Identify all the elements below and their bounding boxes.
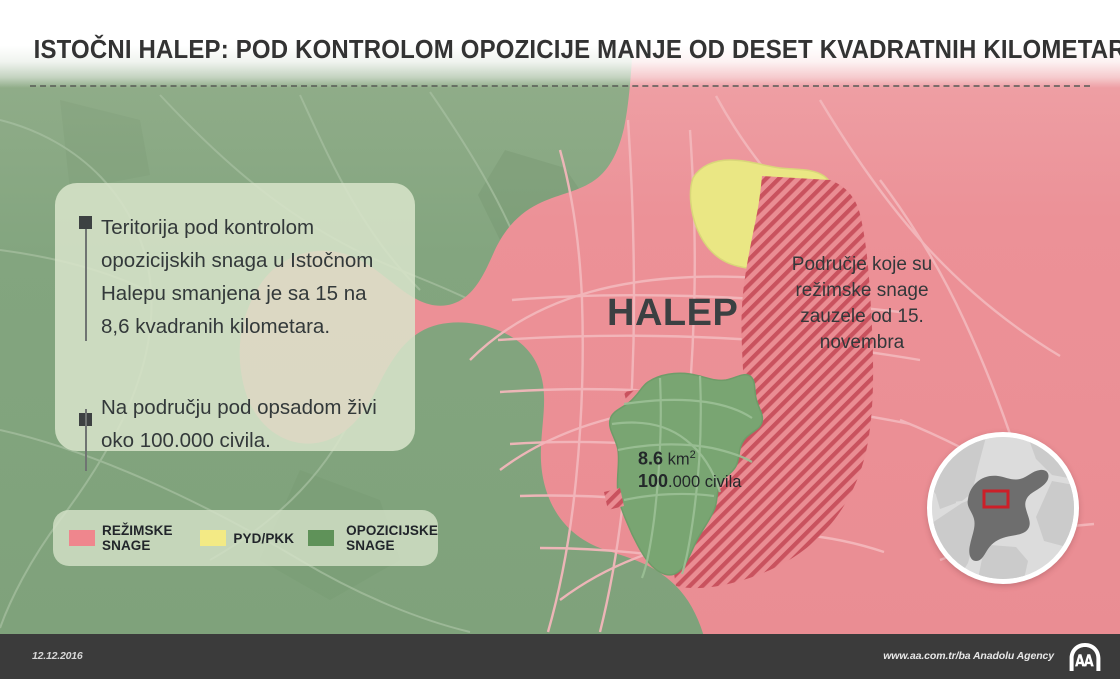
page-title: ISTOČNI HALEP: POD KONTROLOM OPOZICIJE M… (34, 36, 1087, 65)
pocket-area-exponent: 2 (690, 449, 696, 461)
pocket-area-value: 8.6 (638, 449, 663, 469)
infographic-root: ISTOČNI HALEP: POD KONTROLOM OPOZICIJE M… (0, 0, 1120, 679)
info-item: Na području pod opsadom živi oko 100.000… (79, 391, 389, 457)
bullet-square-icon (79, 216, 92, 229)
bullet-rule (85, 409, 87, 471)
legend-label-opposition: OPOZICIJSKE SNAGE (346, 523, 438, 553)
footer-credit: www.aa.com.tr/ba Anadolu Agency (883, 650, 1054, 662)
legend-swatch-opposition (308, 530, 334, 546)
legend-swatch-regime (69, 530, 95, 546)
inset-locator-map (927, 432, 1079, 584)
info-item-text: Teritorija pod kontrolom opozicijskih sn… (101, 211, 389, 343)
legend-entry-opposition: OPOZICIJSKE SNAGE (308, 523, 438, 553)
legend-swatch-pyd-pkk (200, 530, 226, 546)
pocket-statistics: 8.6 km2 100.000 civila (638, 445, 741, 493)
legend-label-regime: REŽIMSKE SNAGE (102, 523, 186, 553)
legend-label-pyd-pkk: PYD/PKK (233, 531, 294, 546)
title-divider (30, 85, 1090, 87)
bullet-rule (85, 229, 87, 341)
hatched-area-annotation: Područje koje su režimske snage zauzele … (762, 252, 962, 356)
footer-bar: 12.12.2016 www.aa.com.tr/ba Anadolu Agen… (0, 634, 1120, 679)
inset-map-svg (932, 437, 1074, 579)
anadolu-agency-logo-icon (1068, 642, 1102, 672)
footer-date: 12.12.2016 (32, 650, 83, 662)
pocket-civilians-value: 100 (638, 471, 668, 491)
legend-entry-pyd-pkk: PYD/PKK (200, 530, 294, 546)
legend-entry-regime: REŽIMSKE SNAGE (69, 523, 186, 553)
info-item-text: Na području pod opsadom živi oko 100.000… (101, 391, 389, 457)
pocket-area-line: 8.6 km2 (638, 445, 741, 471)
pocket-civilians-line: 100.000 civila (638, 471, 741, 493)
pocket-area-unit: km (668, 451, 690, 469)
info-item: Teritorija pod kontrolom opozicijskih sn… (79, 211, 389, 343)
city-label-halep: HALEP (607, 292, 738, 335)
pocket-civilians-rest: .000 civila (668, 473, 741, 491)
info-box: Teritorija pod kontrolom opozicijskih sn… (55, 183, 415, 451)
legend: REŽIMSKE SNAGE PYD/PKK OPOZICIJSKE SNAGE (53, 510, 438, 566)
